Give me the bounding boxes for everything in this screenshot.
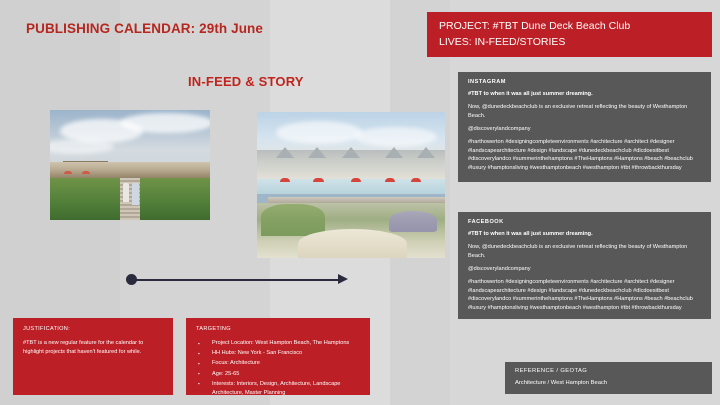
beach-club-watercolor-rendering — [257, 112, 445, 258]
sand-path — [298, 229, 407, 258]
targeting-list: Project Location: West Hampton Beach, Th… — [196, 339, 360, 398]
copy-panel-instagram: INSTAGRAM #TBT to when it was all just s… — [458, 72, 711, 182]
panel-handle-text: @discoverylandcompany — [468, 126, 701, 132]
targeting-box: TARGETING Project Location: West Hampton… — [186, 318, 370, 395]
cloud-shape — [276, 121, 362, 144]
umbrella-shape — [385, 178, 395, 182]
timeline-arrow — [126, 272, 348, 286]
building-facade — [50, 162, 210, 180]
targeting-list-item: Project Location: West Hampton Beach, Th… — [196, 339, 360, 348]
targeting-list-item: Interests: Interiors, Design, Architectu… — [196, 380, 360, 398]
targeting-label: TARGETING — [196, 326, 360, 332]
slide-canvas: PUBLISHING CALENDAR: 29th June IN-FEED &… — [0, 0, 720, 405]
umbrella-shape — [64, 171, 72, 175]
justification-label: JUSTIFICATION: — [23, 326, 163, 332]
umbrella-shape — [313, 178, 323, 182]
umbrella-shape — [280, 178, 290, 182]
roof-gable — [385, 147, 403, 158]
panel-platform-label: INSTAGRAM — [468, 79, 701, 85]
roof-gable — [417, 147, 435, 158]
geotag-value: Architecture / West Hampton Beach — [515, 380, 712, 386]
cloud-shape — [355, 127, 438, 147]
arrow-line — [135, 279, 338, 281]
dune-grass-right — [140, 178, 210, 220]
project-header-line-2: LIVES: IN-FEED/STORIES — [439, 35, 702, 51]
copy-panel-facebook: FACEBOOK #TBT to when it was all just su… — [458, 212, 711, 319]
section-title: IN-FEED & STORY — [188, 74, 304, 89]
targeting-list-item: Focus: Architecture — [196, 359, 360, 368]
beach-club-photograph — [50, 110, 210, 220]
targeting-list-item: HH Hubs: New York - San Francisco — [196, 349, 360, 358]
person-figure — [132, 183, 139, 205]
background-band — [450, 0, 720, 405]
cloud-shape — [120, 113, 210, 133]
panel-hashtags-text: #harthowerton #designingcompleteenvironm… — [468, 278, 701, 312]
targeting-list-item: Age: 25-65 — [196, 370, 360, 379]
roof-gable — [276, 147, 294, 158]
reference-geotag-panel: REFERENCE / GEOTAG Architecture / West H… — [505, 362, 712, 394]
panel-hook-text: #TBT to when it was all just summer drea… — [468, 231, 701, 237]
person-figure — [123, 183, 129, 203]
panel-hook-text: #TBT to when it was all just summer drea… — [468, 91, 701, 97]
panel-body-text: Now, @dunedeckbeachclub is an exclusive … — [468, 243, 701, 260]
panel-platform-label: FACEBOOK — [468, 219, 701, 225]
dune-grass-clump — [261, 204, 325, 236]
lavender-planting — [389, 211, 438, 231]
arrow-head-icon — [338, 274, 348, 284]
dune-grass-left — [50, 178, 120, 220]
geotag-label: REFERENCE / GEOTAG — [515, 368, 712, 374]
justification-box: JUSTIFICATION: #TBT is a new regular fea… — [13, 318, 173, 395]
panel-hashtags-text: #harthowerton #designingcompleteenvironm… — [468, 138, 701, 172]
project-header-line-1: PROJECT: #TBT Dune Deck Beach Club — [439, 19, 702, 35]
umbrella-shape — [411, 178, 421, 182]
umbrella-shape — [351, 178, 361, 182]
panel-handle-text: @discoverylandcompany — [468, 266, 701, 272]
umbrella-shape — [82, 171, 90, 175]
justification-body: #TBT is a new regular feature for the ca… — [23, 339, 163, 357]
panel-body-text: Now, @dunedeckbeachclub is an exclusive … — [468, 103, 701, 120]
roof-gable — [308, 147, 326, 158]
page-title: PUBLISHING CALENDAR: 29th June — [26, 21, 263, 36]
roof-gable — [342, 147, 360, 158]
project-header: PROJECT: #TBT Dune Deck Beach Club LIVES… — [427, 12, 712, 57]
